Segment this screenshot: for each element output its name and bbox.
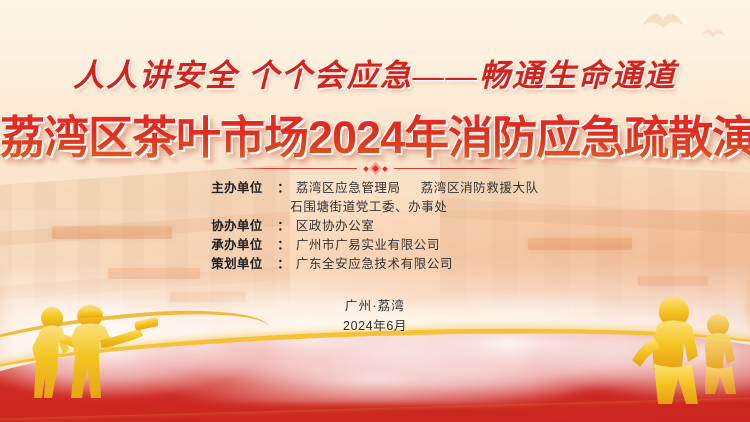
organizer-value: 荔湾区应急管理局 荔湾区消防救援大队: [296, 179, 539, 198]
footer-location: 广州·荔湾: [0, 296, 750, 316]
organizer-row-planner: 策划单位 ： 广东全安应急技术有限公司: [211, 255, 538, 274]
diamond-dot-icon: [363, 166, 369, 172]
event-poster: 人人讲安全 个个会应急——畅通生命通道 荔湾区茶叶市场2024年消防应急疏散演练…: [0, 0, 750, 422]
bird-icon: [640, 8, 686, 34]
organizer-colon-spacer: [277, 198, 290, 217]
organizer-colon: ：: [277, 236, 296, 255]
organizer-value-secondary: 荔湾区消防救援大队: [421, 181, 539, 195]
organizer-label: 承办单位: [211, 236, 277, 255]
organizer-label: 策划单位: [211, 255, 277, 274]
divider-ornament: [357, 164, 394, 173]
bird-small-icon: [700, 26, 726, 40]
organizer-value: 广州市广易实业有限公司: [296, 236, 440, 255]
organizer-value-primary: 荔湾区应急管理局: [296, 181, 401, 195]
organizer-row-undertaker: 承办单位 ： 广州市广易实业有限公司: [211, 236, 538, 255]
organizer-colon: ：: [277, 217, 296, 236]
organizer-value: 区政协办公室: [296, 217, 375, 236]
organizer-row-coorganizer: 协办单位 ： 区政协办公室: [211, 217, 538, 236]
footer-block: 广州·荔湾 2024年6月: [0, 296, 750, 336]
page-title: 荔湾区茶叶市场2024年消防应急疏散演练: [0, 101, 750, 166]
organizer-row-host-line2: 石围塘街道党工委、办事处: [211, 198, 538, 217]
organizer-colon: ：: [277, 179, 296, 198]
organizer-label: 协办单位: [211, 217, 277, 236]
divider-line-left: [230, 168, 357, 170]
event-slogan: 人人讲安全 个个会应急——畅通生命通道: [0, 50, 750, 95]
organizer-label: 主办单位: [211, 179, 277, 198]
organizer-value-line2: 石围塘街道党工委、办事处: [290, 198, 447, 217]
organizer-table: 主办单位 ： 荔湾区应急管理局 荔湾区消防救援大队 石围塘街道党工委、办事处 协…: [211, 179, 538, 274]
organizer-block: 主办单位 ： 荔湾区应急管理局 荔湾区消防救援大队 石围塘街道党工委、办事处 协…: [0, 179, 750, 274]
organizer-row-host: 主办单位 ： 荔湾区应急管理局 荔湾区消防救援大队: [211, 179, 538, 198]
decorative-divider: [230, 164, 520, 173]
organizer-value: 广东全安应急技术有限公司: [296, 255, 453, 274]
organizer-colon: ：: [277, 255, 296, 274]
divider-line-right: [394, 168, 521, 170]
diamond-dot-icon: [382, 166, 388, 172]
diamond-gem-icon: [369, 162, 382, 175]
footer-date: 2024年6月: [0, 316, 750, 336]
